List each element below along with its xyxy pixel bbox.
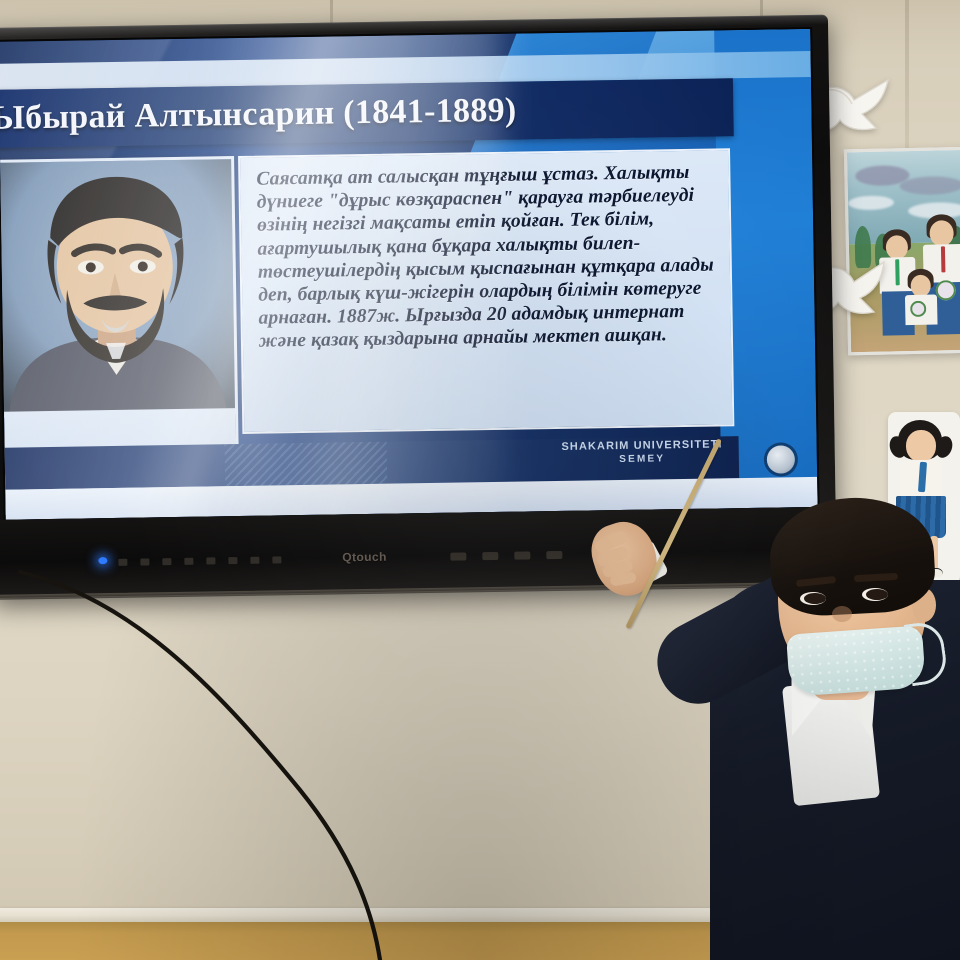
control-key[interactable] bbox=[250, 557, 259, 564]
control-key[interactable] bbox=[184, 558, 193, 565]
port-slot[interactable] bbox=[450, 552, 466, 560]
display-brand-logo: Qtouch bbox=[342, 550, 387, 565]
boy-pupil bbox=[866, 589, 888, 600]
boy-pupil bbox=[804, 593, 826, 604]
pointer-stick bbox=[625, 438, 722, 629]
slide-body-text: Саясатқа ат салысқан тұңғыш ұстаз. Халық… bbox=[256, 161, 717, 354]
power-led bbox=[98, 557, 107, 564]
slide-title: Ыбырай Алтынсарин (1841-1889) bbox=[0, 92, 517, 138]
schoolboy-presenter bbox=[520, 330, 960, 960]
slide-portrait-photo bbox=[0, 156, 238, 418]
control-key[interactable] bbox=[272, 556, 281, 563]
classroom-photo-scene: Ыбырай Алтынсарин (1841-1889) bbox=[0, 0, 960, 960]
boy-hair bbox=[767, 494, 937, 618]
boy-nose bbox=[832, 606, 852, 622]
display-control-keys[interactable] bbox=[118, 556, 281, 566]
control-key[interactable] bbox=[162, 558, 171, 565]
control-key[interactable] bbox=[228, 557, 237, 564]
slide-title-bar: Ыбырай Алтынсарин (1841-1889) bbox=[0, 78, 734, 148]
boy-hand bbox=[584, 514, 666, 604]
poster-cloud bbox=[899, 176, 960, 195]
control-key[interactable] bbox=[140, 558, 149, 565]
control-key[interactable] bbox=[118, 559, 127, 566]
port-slot[interactable] bbox=[482, 552, 498, 560]
slide-footer-ornament bbox=[225, 442, 387, 487]
control-key[interactable] bbox=[206, 557, 215, 564]
portrait-illustration bbox=[0, 159, 235, 415]
